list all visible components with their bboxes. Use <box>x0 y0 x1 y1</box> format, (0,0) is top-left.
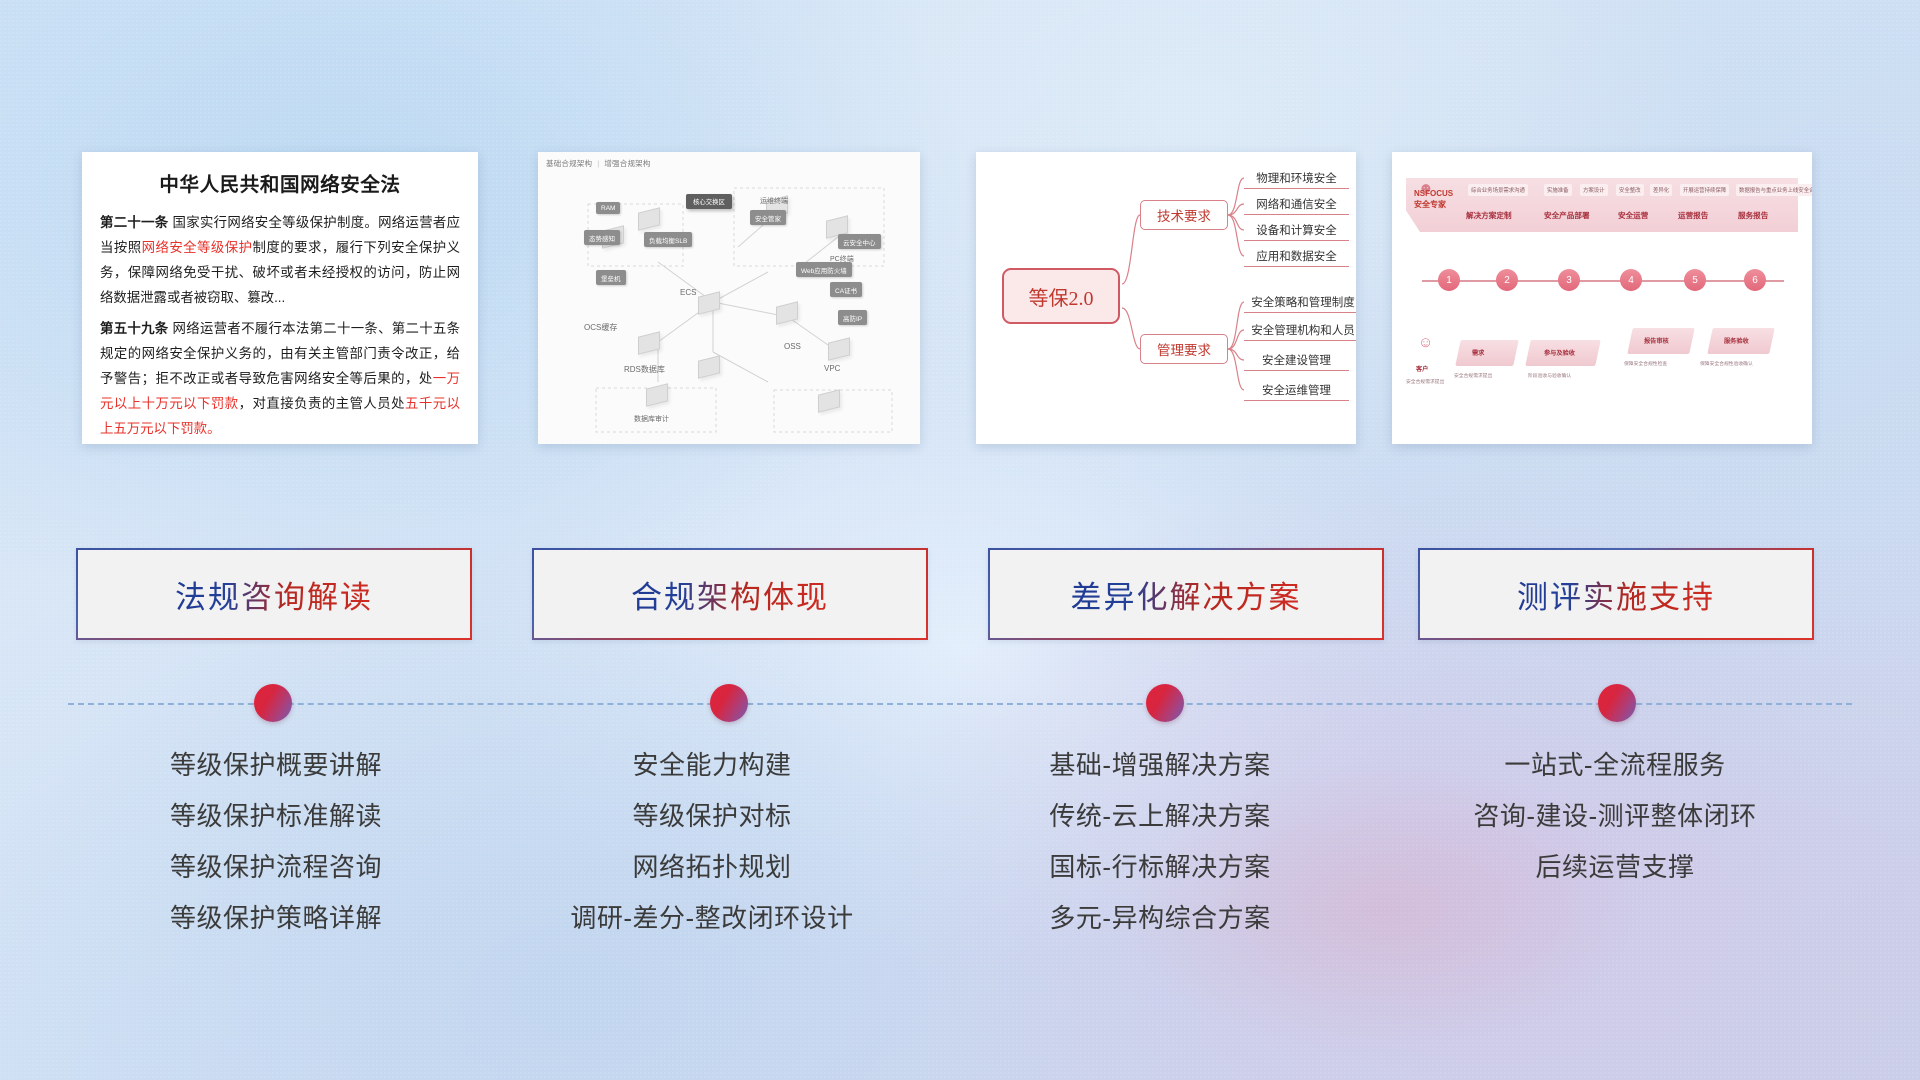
nsfocus-infographic: ☻ NSFOCUS 安全专家 综合业务场景需求沟通 实施准备 方案设计 安全整改… <box>1392 152 1812 444</box>
preview-card-law[interactable]: 中华人民共和国网络安全法 第二十一条 国家实行网络安全等级保护制度。网络运营者应… <box>82 152 478 444</box>
architecture-label-dbaudit: 数据库审计 <box>634 414 669 424</box>
nsfocus-step-4: 4 <box>1620 269 1642 291</box>
law-title: 中华人民共和国网络安全法 <box>100 168 460 197</box>
phase-label-text-4: 测评实施支持 <box>1517 572 1715 617</box>
list-item: 一站式-全流程服务 <box>1400 740 1830 791</box>
mindmap-root-node: 等保2.0 <box>1002 268 1120 324</box>
phase-label-text-2: 合规架构体现 <box>631 572 829 617</box>
mindmap-diagram: 等保2.0 技术要求 管理要求 物理和环境安全 网络和通信安全 设备和计算安全 … <box>976 152 1356 444</box>
nsfocus-chip-2: 实施准备 <box>1544 184 1572 196</box>
nsfocus-chip-5: 差异化 <box>1650 184 1672 196</box>
law-article-59-label: 第五十九条 <box>100 321 169 336</box>
nsfocus-chip-4: 安全整改 <box>1616 184 1644 196</box>
architecture-label-pcterm: PC终端 <box>830 254 854 264</box>
mindmap-leaf-construction: 安全建设管理 <box>1244 350 1349 371</box>
list-item: 等级保护对标 <box>512 791 912 842</box>
architecture-label-situation: 态势感知 <box>584 230 620 245</box>
list-item: 国标-行标解决方案 <box>960 842 1360 893</box>
timeline <box>0 684 1920 724</box>
architecture-label-cloudsec: 云安全中心 <box>838 234 881 249</box>
preview-card-mindmap[interactable]: 等保2.0 技术要求 管理要求 物理和环境安全 网络和通信安全 设备和计算安全 … <box>976 152 1356 444</box>
detail-column-row: 等级保护概要讲解 等级保护标准解读 等级保护流程咨询 等级保护策略详解 安全能力… <box>0 740 1920 970</box>
law-paragraph-59: 第五十九条 网络运营者不履行本法第二十一条、第二十五条规定的网络安全保护义务的，… <box>100 316 460 441</box>
nsfocus-chip-6: 开展运营持续保障 <box>1680 184 1729 196</box>
nsfocus-step-5: 5 <box>1684 269 1706 291</box>
mindmap-leaf-policy: 安全策略和管理制度 <box>1244 292 1356 313</box>
architecture-tag-core: 核心交换区 <box>686 194 732 209</box>
architecture-label-ocs: OCS缓存 <box>584 322 617 333</box>
phase-label-differentiated-solution[interactable]: 差异化解决方案 <box>988 548 1384 640</box>
law-article-21-label: 第二十一条 <box>100 215 169 230</box>
architecture-label-ecs: ECS <box>680 288 696 297</box>
list-item: 后续运营支撑 <box>1400 842 1830 893</box>
architecture-label-waf: Web应用防火墙 <box>796 262 852 277</box>
nsfocus-acceptance-title: 参与及验收 <box>1544 348 1575 357</box>
phase-label-compliance-architecture[interactable]: 合规架构体现 <box>532 548 928 640</box>
list-item: 咨询-建设-测评整体闭环 <box>1400 791 1830 842</box>
nsfocus-service-accept-title: 服务验收 <box>1724 336 1749 345</box>
architecture-label-ca: CA证书 <box>830 282 862 297</box>
phase-label-row: 法规咨询解读 合规架构体现 差异化解决方案 测评实施支持 <box>0 548 1920 644</box>
architecture-label-vpc: VPC <box>824 364 840 373</box>
list-item: 等级保护标准解读 <box>76 791 476 842</box>
mindmap-leaf-operations: 安全运维管理 <box>1244 380 1349 401</box>
preview-card-nsfocus[interactable]: ☻ NSFOCUS 安全专家 综合业务场景需求沟通 实施准备 方案设计 安全整改… <box>1392 152 1812 444</box>
law-article-21-highlight: 网络安全等级保护 <box>142 240 253 255</box>
architecture-label-oss: OSS <box>784 342 801 351</box>
architecture-label-antiddos: 高防IP <box>838 310 867 325</box>
architecture-diagram: 基础合规架构|增强合规架构 <box>538 152 920 444</box>
nsfocus-service-1: 解决方案定制 <box>1466 210 1512 221</box>
nsfocus-client-sub: 安全合规需求提出 <box>1406 378 1444 385</box>
preview-card-architecture[interactable]: 基础合规架构|增强合规架构 <box>538 152 920 444</box>
architecture-label-bastion: 堡垒机 <box>596 270 626 285</box>
list-item: 网络拓扑规划 <box>512 842 912 893</box>
detail-column-3: 基础-增强解决方案 传统-云上解决方案 国标-行标解决方案 多元-异构综合方案 <box>960 740 1360 944</box>
list-item: 传统-云上解决方案 <box>960 791 1360 842</box>
nsfocus-service-3: 安全运营 <box>1618 210 1648 221</box>
nsfocus-client-label: 客户 <box>1416 364 1428 373</box>
nsfocus-step-3: 3 <box>1558 269 1580 291</box>
phase-label-text-3: 差异化解决方案 <box>1071 572 1302 617</box>
nsfocus-acceptance-sub: 阶段验收与验收确认 <box>1528 372 1571 379</box>
phase-label-text-1: 法规咨询解读 <box>175 572 373 617</box>
list-item: 等级保护概要讲解 <box>76 740 476 791</box>
timeline-dot-4[interactable] <box>1598 684 1636 722</box>
nsfocus-service-4: 运营报告 <box>1678 210 1708 221</box>
preview-card-row: 中华人民共和国网络安全法 第二十一条 国家实行网络安全等级保护制度。网络运营者应… <box>0 152 1920 452</box>
nsfocus-brand: NSFOCUS 安全专家 <box>1414 188 1453 210</box>
law-document: 中华人民共和国网络安全法 第二十一条 国家实行网络安全等级保护制度。网络运营者应… <box>82 152 478 444</box>
nsfocus-service-5: 服务报告 <box>1738 210 1768 221</box>
detail-column-2: 安全能力构建 等级保护对标 网络拓扑规划 调研-差分-整改闭环设计 <box>512 740 912 944</box>
list-item: 基础-增强解决方案 <box>960 740 1360 791</box>
architecture-label-manager: 安全管家 <box>750 210 786 225</box>
architecture-label-lb: 负载均衡SLB <box>644 232 692 247</box>
timeline-dot-2[interactable] <box>710 684 748 722</box>
mindmap-leaf-device: 设备和计算安全 <box>1244 220 1349 241</box>
list-item: 等级保护流程咨询 <box>76 842 476 893</box>
architecture-label-rds: RDS数据库 <box>624 364 665 375</box>
detail-column-4: 一站式-全流程服务 咨询-建设-测评整体闭环 后续运营支撑 <box>1400 740 1830 893</box>
nsfocus-demand-title: 需求 <box>1472 348 1484 357</box>
mindmap-leaf-network: 网络和通信安全 <box>1244 194 1349 215</box>
timeline-dot-1[interactable] <box>254 684 292 722</box>
nsfocus-brand-line1: NSFOCUS <box>1414 188 1453 199</box>
nsfocus-service-accept-sub: 保障安全合规性验收确认 <box>1700 360 1753 367</box>
nsfocus-step-6: 6 <box>1744 269 1766 291</box>
phase-label-assessment-support[interactable]: 测评实施支持 <box>1418 548 1814 640</box>
phase-label-regulation-consulting[interactable]: 法规咨询解读 <box>76 548 472 640</box>
nsfocus-report-review-title: 报告审核 <box>1644 336 1669 345</box>
slide-stage: 中华人民共和国网络安全法 第二十一条 国家实行网络安全等级保护制度。网络运营者应… <box>0 0 1920 1080</box>
nsfocus-brand-line2: 安全专家 <box>1414 199 1453 210</box>
architecture-label-opsterm: 运维终端 <box>760 196 788 206</box>
mindmap-branch-technical: 技术要求 <box>1140 200 1228 230</box>
list-item: 调研-差分-整改闭环设计 <box>512 893 912 944</box>
list-item: 多元-异构综合方案 <box>960 893 1360 944</box>
nsfocus-report-review-sub: 保障安全合规性检查 <box>1624 360 1667 367</box>
law-paragraph-21: 第二十一条 国家实行网络安全等级保护制度。网络运营者应当按照网络安全等级保护制度… <box>100 210 460 310</box>
list-item: 等级保护策略详解 <box>76 893 476 944</box>
mindmap-leaf-org: 安全管理机构和人员 <box>1244 320 1356 341</box>
nsfocus-step-1: 1 <box>1438 269 1460 291</box>
nsfocus-chip-7: 数据报告与重点业务上线安全合规性 <box>1736 184 1812 196</box>
nsfocus-service-2: 安全产品部署 <box>1544 210 1590 221</box>
mindmap-branch-management: 管理要求 <box>1140 334 1228 364</box>
mindmap-leaf-application: 应用和数据安全 <box>1244 246 1349 267</box>
timeline-dashed-line <box>68 703 1852 705</box>
architecture-label-ram: RAM <box>596 202 620 214</box>
mindmap-leaf-physical: 物理和环境安全 <box>1244 168 1349 189</box>
detail-column-1: 等级保护概要讲解 等级保护标准解读 等级保护流程咨询 等级保护策略详解 <box>76 740 476 944</box>
list-item: 安全能力构建 <box>512 740 912 791</box>
nsfocus-timeline-rail <box>1422 280 1784 282</box>
nsfocus-step-2: 2 <box>1496 269 1518 291</box>
law-article-59-text-b: ，对直接负责的主管人员处 <box>239 396 405 411</box>
nsfocus-shape-demand <box>1455 340 1519 366</box>
client-person-icon: ☺ <box>1418 334 1433 351</box>
nsfocus-chip-1: 综合业务场景需求沟通 <box>1468 184 1528 196</box>
nsfocus-chip-3: 方案设计 <box>1580 184 1608 196</box>
timeline-dot-3[interactable] <box>1146 684 1184 722</box>
nsfocus-demand-sub: 安全合规需求提出 <box>1454 372 1492 379</box>
